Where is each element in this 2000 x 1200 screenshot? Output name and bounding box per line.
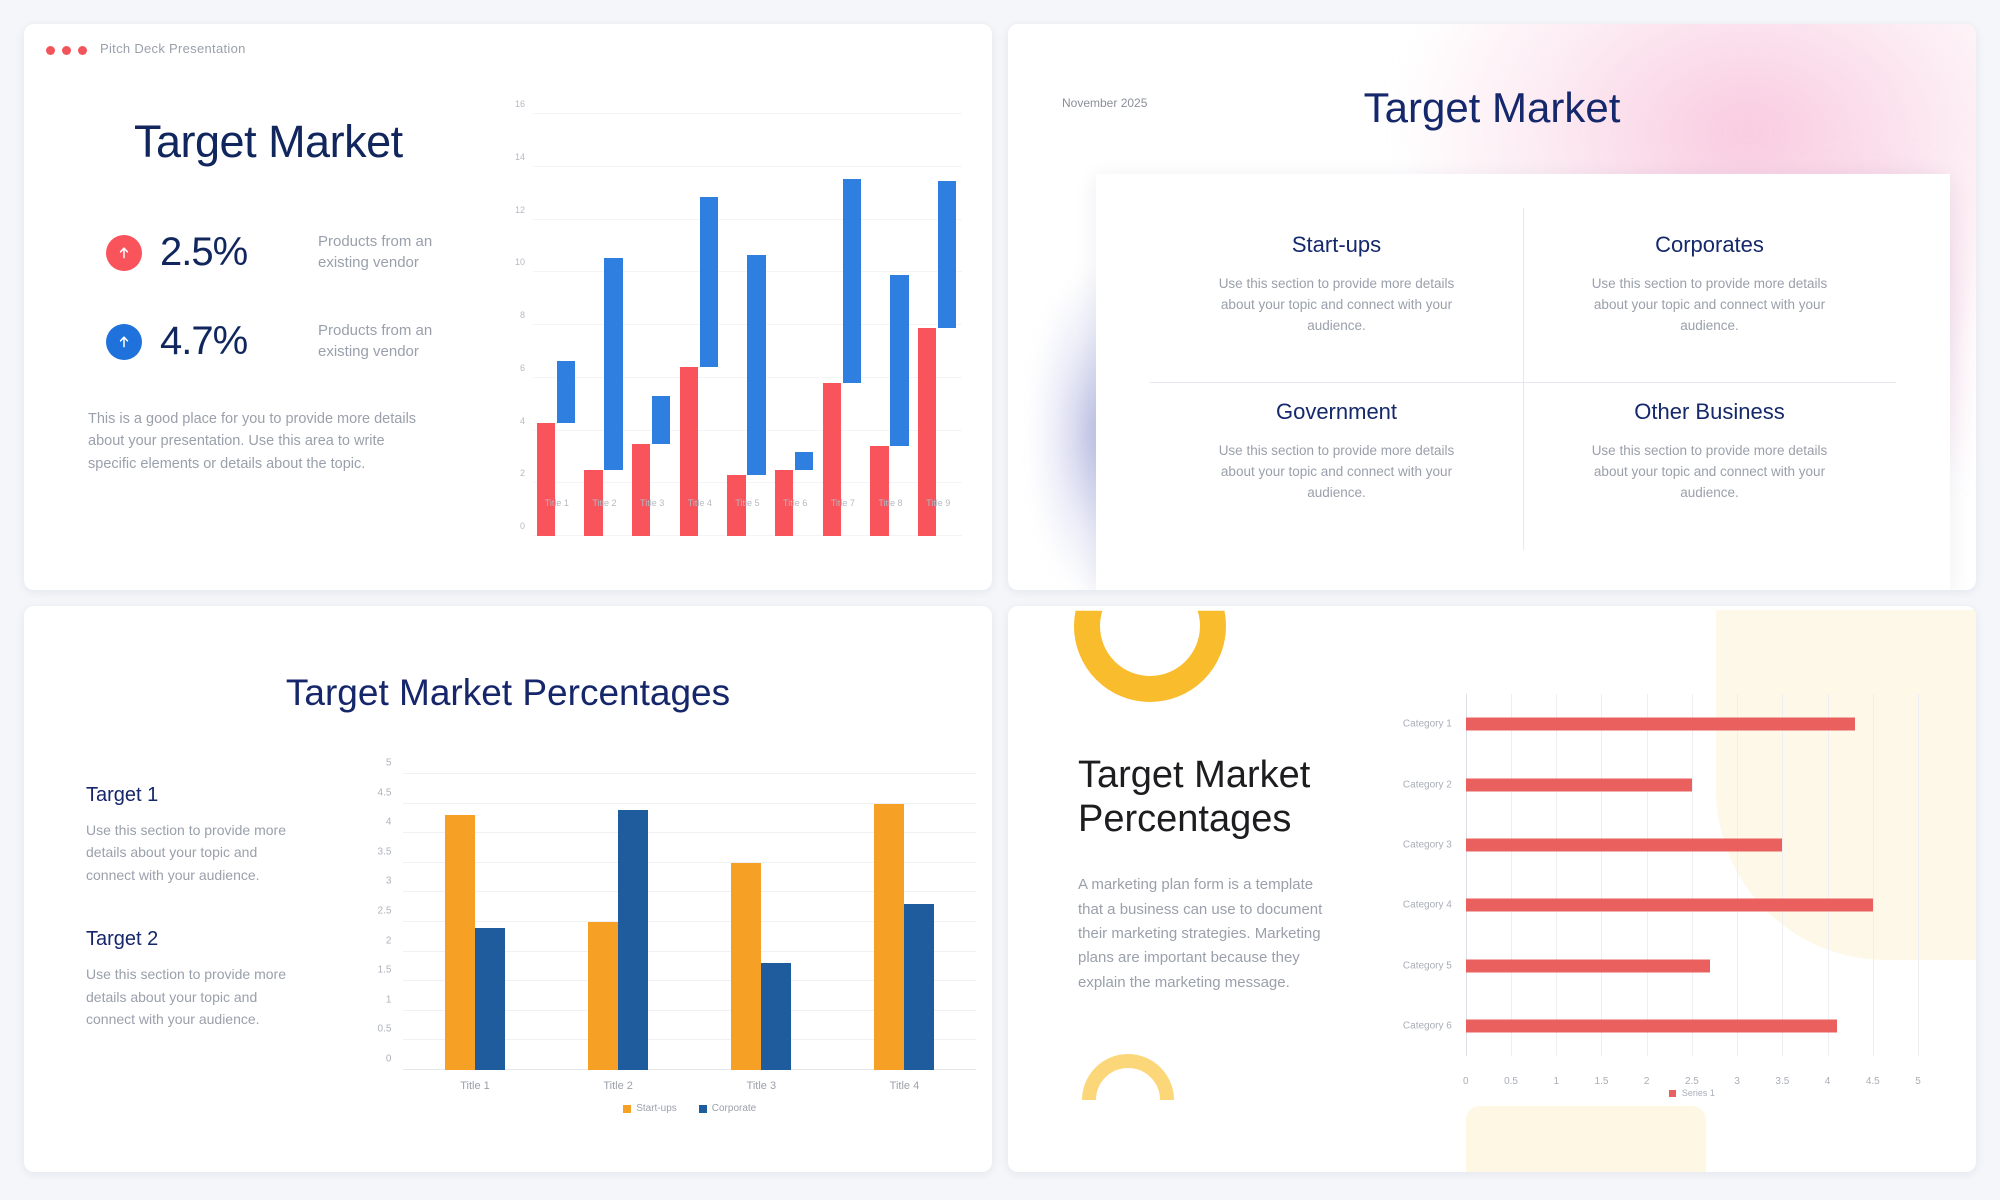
- grouped-column-chart: 00.511.522.533.544.55 Title 1Title 2Titl…: [363, 774, 976, 1116]
- chart-gridline: [1647, 694, 1648, 1056]
- quadrant-cell-corporates[interactable]: Corporates Use this section to provide m…: [1523, 210, 1896, 377]
- chart-y-tick: 6: [520, 363, 525, 373]
- chart-bar: [445, 815, 475, 1070]
- chart-bar: [870, 446, 888, 536]
- chart-y-tick: 4: [520, 416, 525, 426]
- chart-category-label: Category 6: [1403, 1020, 1452, 1031]
- legend-swatch: [699, 1105, 707, 1113]
- chart-x-label: Title 3: [628, 498, 676, 508]
- chart-bar: [632, 444, 650, 536]
- quadrant-text: Use this section to provide more details…: [1581, 274, 1838, 337]
- quadrant-title: Government: [1208, 399, 1465, 425]
- stat-label: Products from an existing vendor: [318, 232, 449, 273]
- quadrant-title: Other Business: [1581, 399, 1838, 425]
- arrow-up-icon: [106, 235, 142, 271]
- slide-4-left-column: Target Market Percentages A marketing pl…: [1008, 753, 1376, 1025]
- chart-bar: [604, 258, 622, 470]
- chart-y-tick: 4: [386, 817, 392, 828]
- chart-gridline: [1737, 694, 1738, 1056]
- chart-category-label: Category 2: [1403, 779, 1452, 790]
- chart-bar: [1466, 1019, 1837, 1032]
- chart-x-tick: 0: [1463, 1076, 1469, 1087]
- chart-y-axis: 0246810121416: [503, 114, 529, 536]
- slide-3-left-column: Target 1 Use this section to provide mor…: [24, 756, 343, 1152]
- waterfall-chart: 0246810121416 Title 1Title 2Title 3Title…: [503, 114, 962, 536]
- chart-bar: [795, 452, 813, 470]
- target-block-text: Use this section to provide more details…: [86, 963, 309, 1030]
- chart-gridline: [1692, 694, 1693, 1056]
- chart-gridline: [1873, 694, 1874, 1056]
- chart-gridline: [1511, 694, 1512, 1056]
- deck-caption: Pitch Deck Presentation: [100, 41, 246, 56]
- quadrant-cell-government[interactable]: Government Use this section to provide m…: [1150, 377, 1523, 544]
- stat-row: 2.5% Products from an existing vendor: [88, 230, 449, 275]
- chart-bar: [747, 255, 765, 475]
- quadrant-text: Use this section to provide more details…: [1208, 441, 1465, 504]
- stat-label: Products from an existing vendor: [318, 321, 449, 362]
- legend-label: Series 1: [1682, 1088, 1715, 1098]
- quadrant-vertical-divider: [1523, 208, 1524, 550]
- chart-column-group: [833, 774, 976, 1070]
- chart-bar: [652, 396, 670, 443]
- slide-deck: Pitch Deck Presentation Target Market 2.…: [0, 0, 2000, 1200]
- chart-x-tick: 2.5: [1685, 1076, 1699, 1087]
- chart-plot-area: [403, 774, 976, 1070]
- chart-x-label: Title 7: [819, 498, 867, 508]
- page-title: Target Market: [88, 116, 449, 168]
- slide-1[interactable]: Pitch Deck Presentation Target Market 2.…: [24, 24, 992, 590]
- chart-x-label: Title 8: [867, 498, 915, 508]
- chart-bar: [1466, 778, 1692, 791]
- chart-category-label: Category 5: [1403, 960, 1452, 971]
- chart-y-tick: 8: [520, 310, 525, 320]
- chart-column-group: [547, 774, 690, 1070]
- chart-gridline: [1601, 694, 1602, 1056]
- chart-bar: [761, 963, 791, 1070]
- chart-column-group: [581, 114, 629, 536]
- chart-column-group: [533, 114, 581, 536]
- stat-row: 4.7% Products from an existing vendor: [88, 319, 449, 364]
- chart-column-group: [628, 114, 676, 536]
- chart-bar: [680, 367, 698, 536]
- chart-bar: [1466, 959, 1710, 972]
- target-block-title: Target 2: [86, 928, 309, 951]
- quadrant-cell-other-business[interactable]: Other Business Use this section to provi…: [1523, 377, 1896, 544]
- chart-y-tick: 2: [520, 468, 525, 478]
- chart-y-tick: 3.5: [378, 846, 392, 857]
- chart-x-tick: 2: [1644, 1076, 1650, 1087]
- chart-x-tick: 1.5: [1595, 1076, 1609, 1087]
- chart-x-label: Title 1: [533, 498, 581, 508]
- quadrant-title: Start-ups: [1208, 232, 1465, 258]
- chart-bar: [557, 361, 575, 423]
- slide-2[interactable]: November 2025 Target Market Start-ups Us…: [1008, 24, 1976, 590]
- chart-bar: [731, 863, 761, 1070]
- quadrant-title: Corporates: [1581, 232, 1838, 258]
- chart-column-group: [724, 114, 772, 536]
- chart-category-label: Category 4: [1403, 900, 1452, 911]
- slide-3[interactable]: Target Market Percentages Target 1 Use t…: [24, 606, 992, 1172]
- quadrant-text: Use this section to provide more details…: [1581, 441, 1838, 504]
- chart-plot-area: [1466, 694, 1918, 1056]
- page-title: Target Market Percentages: [1078, 753, 1342, 841]
- chart-gridline: [1782, 694, 1783, 1056]
- quadrant-text: Use this section to provide more details…: [1208, 274, 1465, 337]
- chart-x-label: Title 1: [403, 1080, 546, 1092]
- chart-bar: [938, 181, 956, 327]
- chart-column-group: [403, 774, 546, 1070]
- target-block-title: Target 1: [86, 784, 309, 807]
- quadrant-cell-startups[interactable]: Start-ups Use this section to provide mo…: [1150, 210, 1523, 377]
- target-block-1: Target 1 Use this section to provide mor…: [86, 784, 309, 886]
- window-dot-red: [46, 46, 55, 55]
- chart-gridline: [1918, 694, 1919, 1056]
- chart-bar: [904, 904, 934, 1070]
- chart-y-tick: 2.5: [378, 906, 392, 917]
- chart-x-label: Title 3: [690, 1080, 833, 1092]
- slide-1-note: This is a good place for you to provide …: [88, 408, 418, 475]
- chart-y-tick: 5: [386, 758, 392, 769]
- chart-category-label: Category 1: [1403, 719, 1452, 730]
- chart-axis-line: [1466, 694, 1467, 1056]
- target-block-text: Use this section to provide more details…: [86, 819, 309, 886]
- chart-x-label: Title 9: [914, 498, 962, 508]
- window-dot-red: [78, 46, 87, 55]
- legend-item: Start-ups: [623, 1103, 677, 1114]
- chart-legend: Series 1: [1466, 1088, 1918, 1098]
- chart-column-group: [914, 114, 962, 536]
- legend-swatch: [1669, 1090, 1676, 1097]
- chart-bar: [1466, 899, 1873, 912]
- legend-label: Start-ups: [636, 1103, 677, 1114]
- chart-column-group: [676, 114, 724, 536]
- chart-bar: [823, 383, 841, 536]
- slide-4-chart-area: Category 1Category 2Category 3Category 4…: [1376, 606, 1976, 1172]
- chart-x-tick: 4: [1825, 1076, 1831, 1087]
- chart-x-label: Title 2: [547, 1080, 690, 1092]
- chart-bar: [843, 179, 861, 383]
- chart-x-axis-labels: Title 1Title 2Title 3Title 4: [403, 1080, 976, 1092]
- stat-value: 2.5%: [160, 230, 300, 275]
- chart-y-tick: 1: [386, 994, 392, 1005]
- chart-y-axis: 00.511.522.533.544.55: [363, 774, 397, 1070]
- chart-bar: [1466, 718, 1855, 731]
- chart-x-tick: 5: [1915, 1076, 1921, 1087]
- chart-x-tick: 3: [1734, 1076, 1740, 1087]
- chart-y-tick: 3: [386, 876, 392, 887]
- chart-x-label: Title 4: [833, 1080, 976, 1092]
- chart-y-tick: 10: [515, 257, 525, 267]
- chart-x-tick: 1: [1553, 1076, 1559, 1087]
- quadrant-horizontal-divider: [1150, 382, 1896, 383]
- chart-column-group: [771, 114, 819, 536]
- chart-y-tick: 1.5: [378, 965, 392, 976]
- chart-bar: [890, 275, 908, 446]
- slide-4-body: Target Market Percentages A marketing pl…: [1008, 606, 1976, 1172]
- chart-bar: [874, 804, 904, 1070]
- chart-x-label: Title 2: [581, 498, 629, 508]
- legend-item: Corporate: [699, 1103, 756, 1114]
- slide-1-chart-area: 0246810121416 Title 1Title 2Title 3Title…: [479, 80, 992, 590]
- horizontal-bar-chart: Category 1Category 2Category 3Category 4…: [1386, 694, 1918, 1094]
- chart-bar: [1466, 838, 1783, 851]
- quadrant-card: Start-ups Use this section to provide mo…: [1096, 174, 1950, 590]
- window-dot-red: [62, 46, 71, 55]
- chart-category-label: Category 3: [1403, 839, 1452, 850]
- chart-y-tick: 0: [520, 521, 525, 531]
- chart-gridline: [1556, 694, 1557, 1056]
- arrow-up-icon: [106, 324, 142, 360]
- chart-x-tick: 3.5: [1775, 1076, 1789, 1087]
- chart-x-axis-labels: Title 1Title 2Title 3Title 4Title 5Title…: [533, 498, 962, 508]
- chart-plot-area: [533, 114, 962, 536]
- legend-label: Corporate: [712, 1103, 756, 1114]
- chart-bar: [537, 423, 555, 536]
- target-block-2: Target 2 Use this section to provide mor…: [86, 928, 309, 1030]
- chart-x-label: Title 6: [771, 498, 819, 508]
- chart-x-tick: 0.5: [1504, 1076, 1518, 1087]
- legend-swatch: [623, 1105, 631, 1113]
- chart-y-tick: 2: [386, 935, 392, 946]
- chart-column-group: [867, 114, 915, 536]
- chart-bar: [588, 922, 618, 1070]
- chart-column-group: [690, 774, 833, 1070]
- chart-column-group: [819, 114, 867, 536]
- slide-3-chart-area: 00.511.522.533.544.55 Title 1Title 2Titl…: [343, 756, 992, 1152]
- page-title: Target Market: [1008, 84, 1976, 132]
- chart-y-tick: 0: [386, 1054, 392, 1065]
- slide-1-body: Target Market 2.5% Products from an exis…: [24, 80, 992, 590]
- slide-1-left-column: Target Market 2.5% Products from an exis…: [24, 80, 479, 590]
- slide-4-text: A marketing plan form is a template that…: [1078, 873, 1342, 994]
- chart-y-tick: 12: [515, 205, 525, 215]
- chart-legend: Start-upsCorporate: [403, 1103, 976, 1114]
- stat-value: 4.7%: [160, 319, 300, 364]
- chart-category-labels: Category 1Category 2Category 3Category 4…: [1386, 694, 1460, 1056]
- chart-x-tick: 4.5: [1866, 1076, 1880, 1087]
- chart-y-tick: 16: [515, 99, 525, 109]
- page-title: Target Market Percentages: [24, 672, 992, 714]
- slide-4[interactable]: Target Market Percentages A marketing pl…: [1008, 606, 1976, 1172]
- chart-y-tick: 0.5: [378, 1024, 392, 1035]
- chart-bar: [475, 928, 505, 1070]
- chart-x-label: Title 4: [676, 498, 724, 508]
- chart-bar: [618, 810, 648, 1070]
- chart-bar: [700, 197, 718, 367]
- chart-y-tick: 14: [515, 152, 525, 162]
- chart-y-tick: 4.5: [378, 787, 392, 798]
- chart-gridline: [1828, 694, 1829, 1056]
- chart-x-label: Title 5: [724, 498, 772, 508]
- slide-3-body: Target 1 Use this section to provide mor…: [24, 756, 992, 1152]
- window-dots: [46, 46, 87, 55]
